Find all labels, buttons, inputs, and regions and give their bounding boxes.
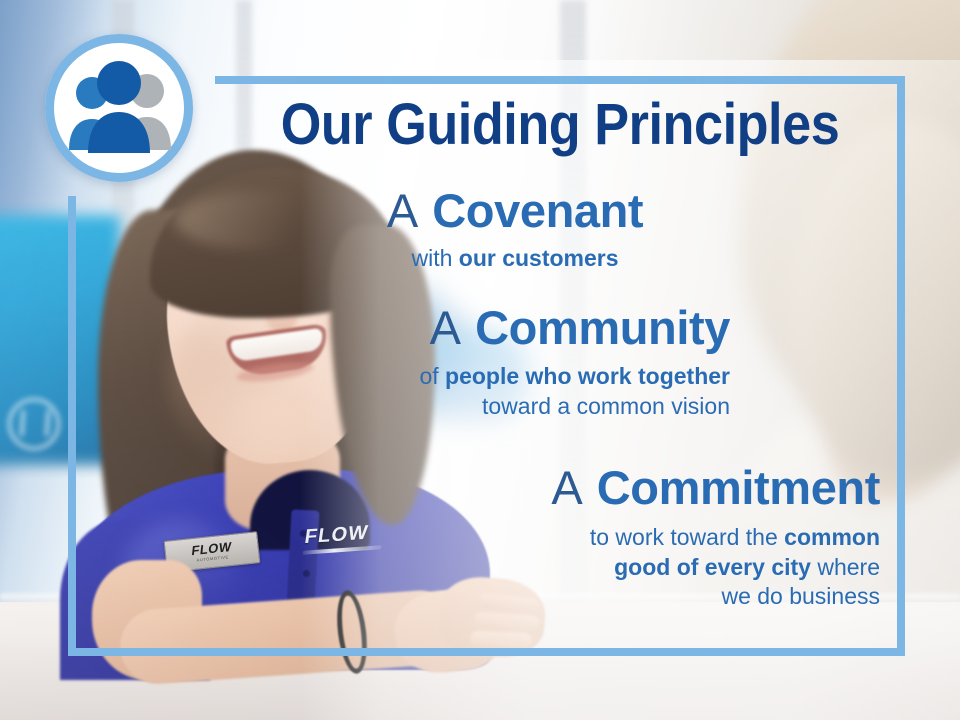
principle-lead-word: A	[430, 301, 462, 354]
principle-subtext-line: toward a common vision	[385, 392, 730, 421]
chest-logo-text: FLOW	[303, 522, 370, 549]
shirt-button	[303, 570, 310, 577]
page-title: Our Guiding Principles	[250, 96, 871, 154]
principle-subtext: of people who work togethertoward a comm…	[385, 362, 730, 421]
principle-subtext-line: to work toward the common	[430, 523, 880, 552]
principle-block-covenant: A Covenant with our customers	[340, 186, 690, 274]
principle-heading: A Commitment	[430, 463, 880, 512]
principle-block-community: A Community of people who work togethert…	[385, 303, 730, 421]
principle-subtext: to work toward the commongood of every c…	[430, 523, 880, 611]
principle-subtext: with our customers	[340, 244, 690, 273]
principle-subtext-line: we do business	[430, 582, 880, 611]
principle-subtext-line: good of every city where	[430, 553, 880, 582]
principle-key-word: Covenant	[432, 184, 643, 237]
principle-lead-word: A	[387, 184, 419, 237]
principle-subtext-line: of people who work together	[385, 362, 730, 391]
principle-subtext-line: with our customers	[340, 244, 690, 273]
subject-finger	[470, 631, 532, 648]
principle-block-commitment: A Commitment to work toward the commongo…	[430, 463, 880, 612]
subject-hair-shine	[175, 190, 345, 250]
principle-key-word: Commitment	[597, 461, 880, 514]
subject-chin	[215, 395, 335, 465]
graphic-canvas: FLOW AUTOMOTIVE FLOW	[0, 0, 960, 720]
principle-heading: A Community	[385, 303, 730, 352]
showroom-panel-logo	[8, 398, 60, 450]
principle-heading: A Covenant	[340, 186, 690, 235]
principle-key-word: Community	[475, 301, 730, 354]
people-group-icon	[63, 55, 175, 161]
principle-lead-word: A	[551, 461, 583, 514]
